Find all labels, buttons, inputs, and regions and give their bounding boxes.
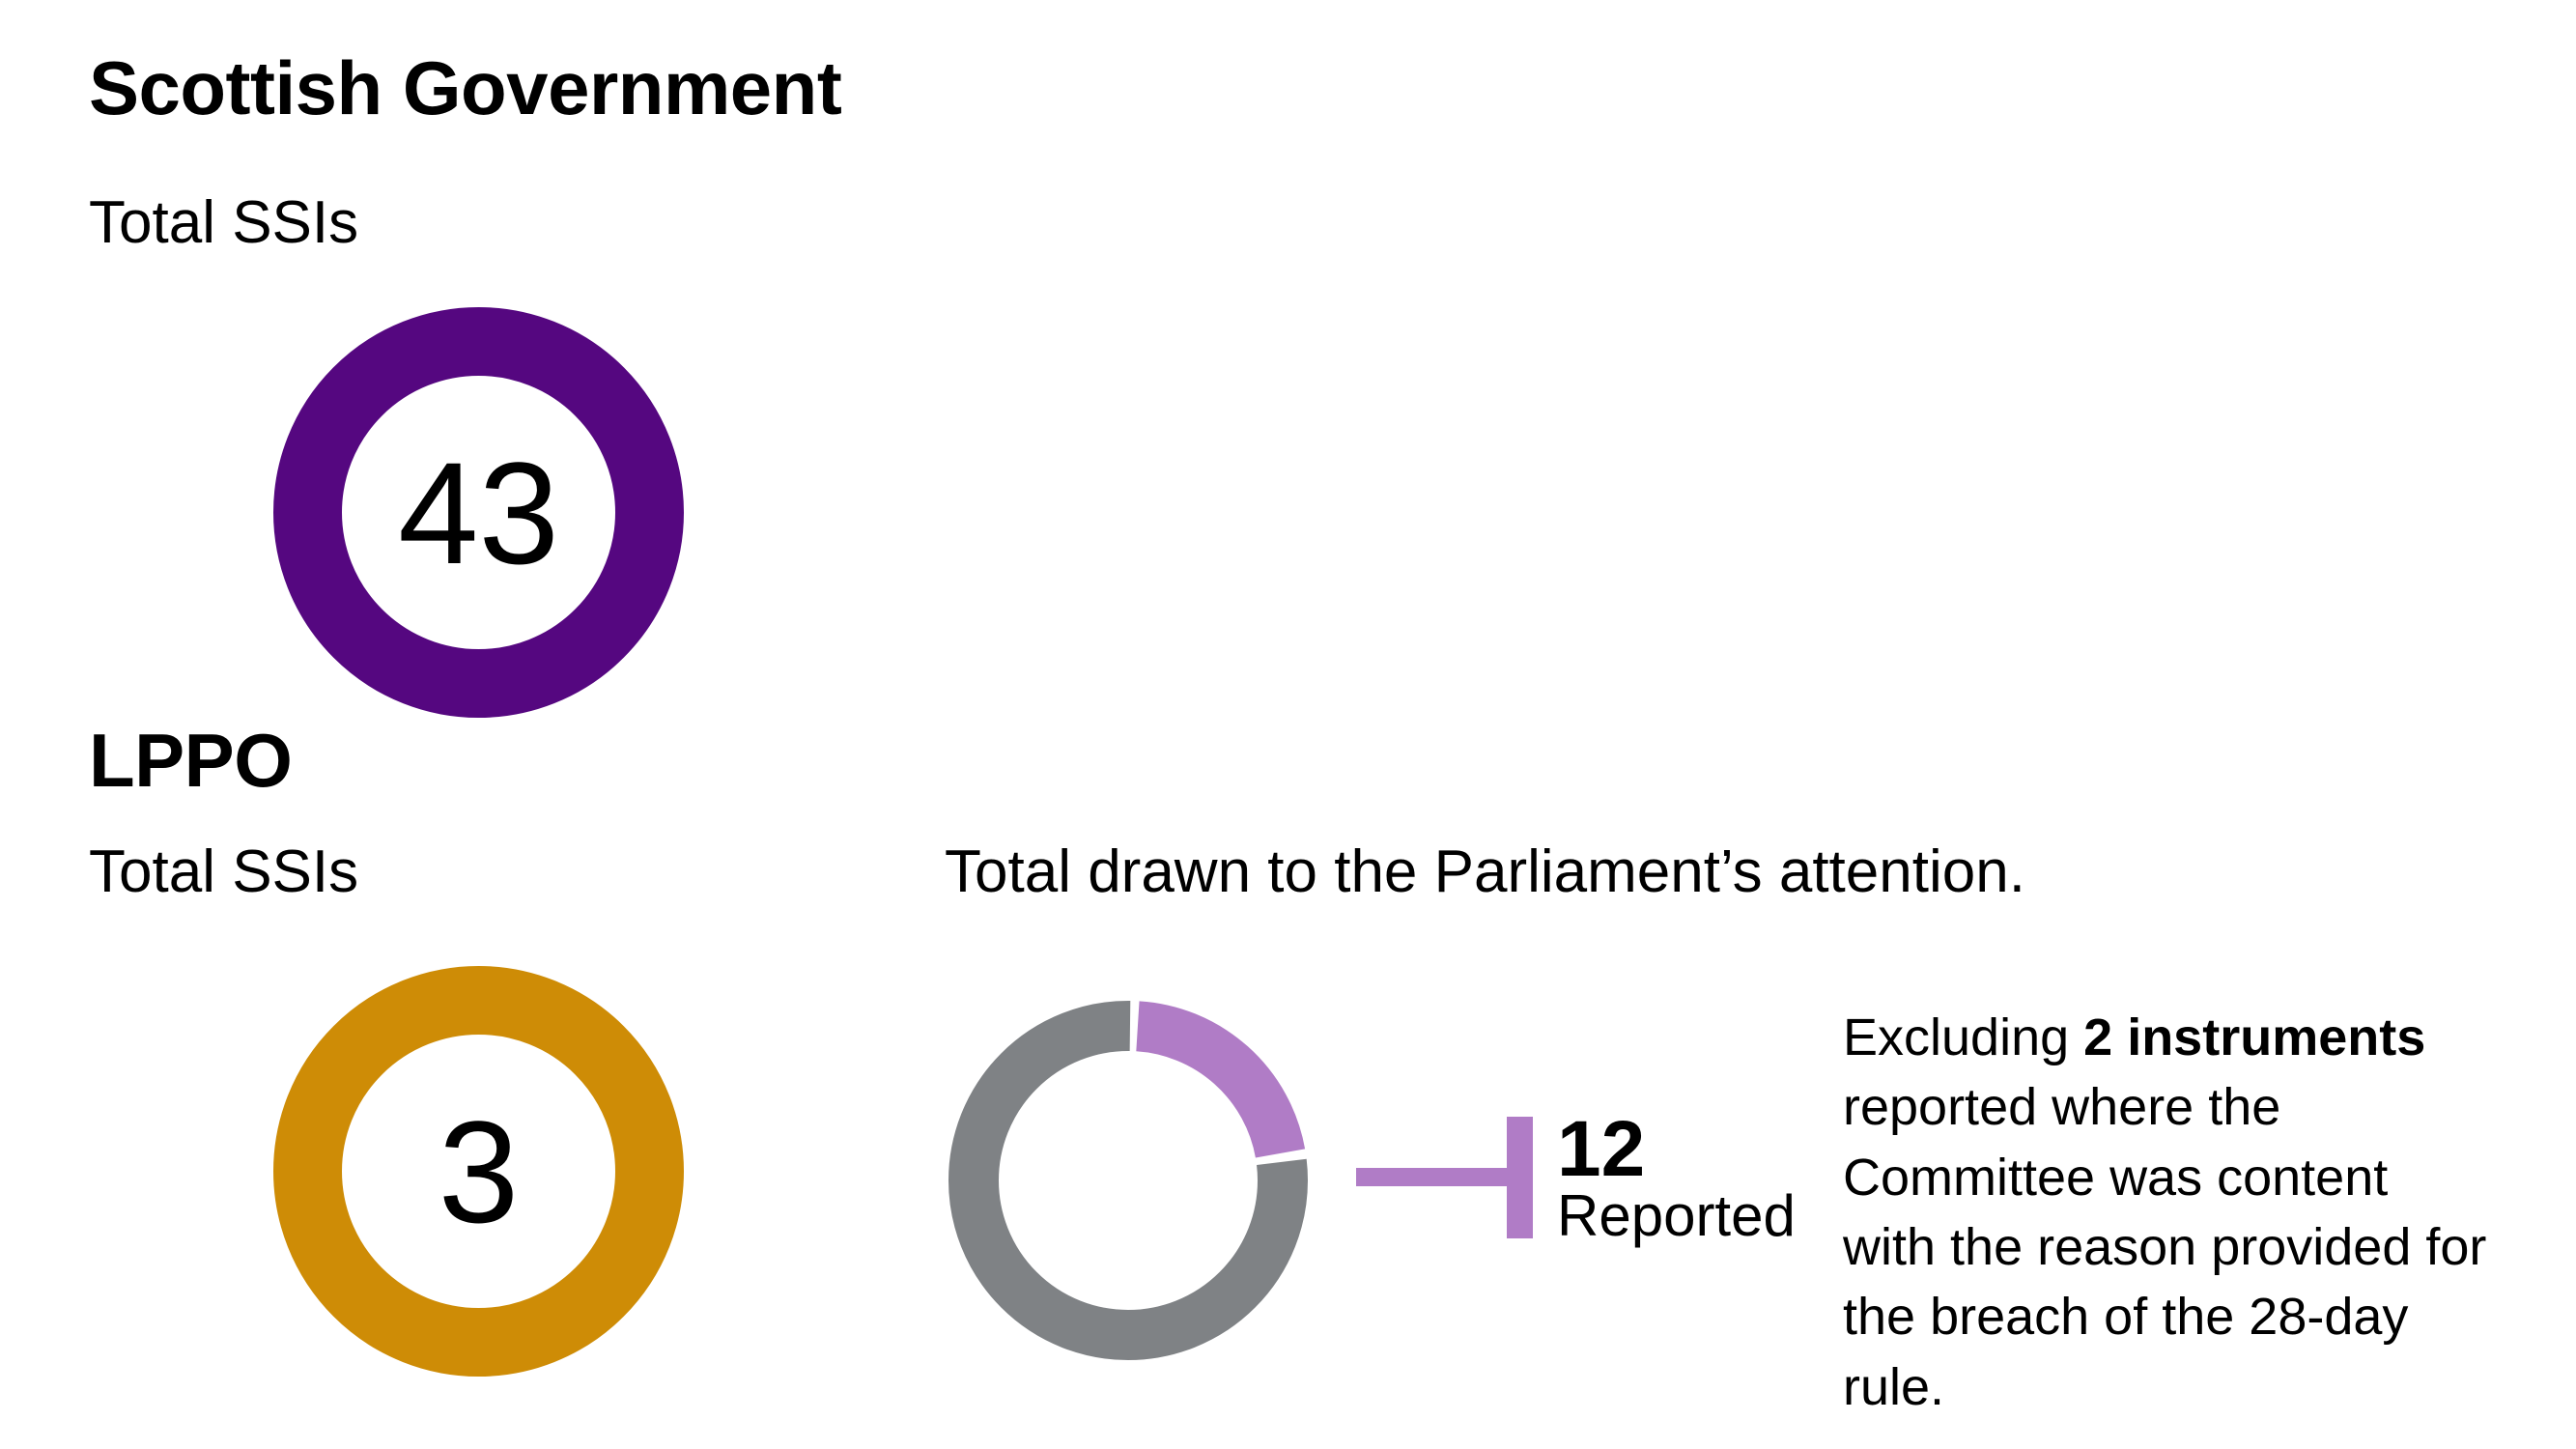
donut-segments [935,987,1321,1374]
exclusion-note-emphasis: 2 instruments [2083,1009,2425,1066]
lppo-total-ssis-label: Total SSIs [89,842,358,902]
scottish-government-total-ssis-label: Total SSIs [89,193,358,253]
callout-leader-tick [1507,1117,1533,1238]
drawn-to-attention-label: Total drawn to the Parliament’s attentio… [945,842,2025,902]
exclusion-note-prefix: Excluding [1843,1009,2083,1066]
exclusion-note: Excluding 2 instruments reported where t… [1843,1003,2490,1422]
drawn-to-attention-donut [935,987,1321,1374]
scottish-government-heading: Scottish Government [89,50,841,126]
scottish-government-total-ssis-donut: 43 [273,307,684,718]
lppo-heading: LPPO [89,723,292,798]
exclusion-note-suffix: reported where the Committee was content… [1843,1078,2486,1415]
donut-ring-purple [273,307,684,718]
lppo-total-ssis-donut: 3 [273,966,684,1377]
infographic-canvas: Scottish Government Total SSIs 43 LPPO T… [0,0,2576,1449]
callout-leader-line [1356,1168,1511,1186]
donut-ring-gold [273,966,684,1377]
